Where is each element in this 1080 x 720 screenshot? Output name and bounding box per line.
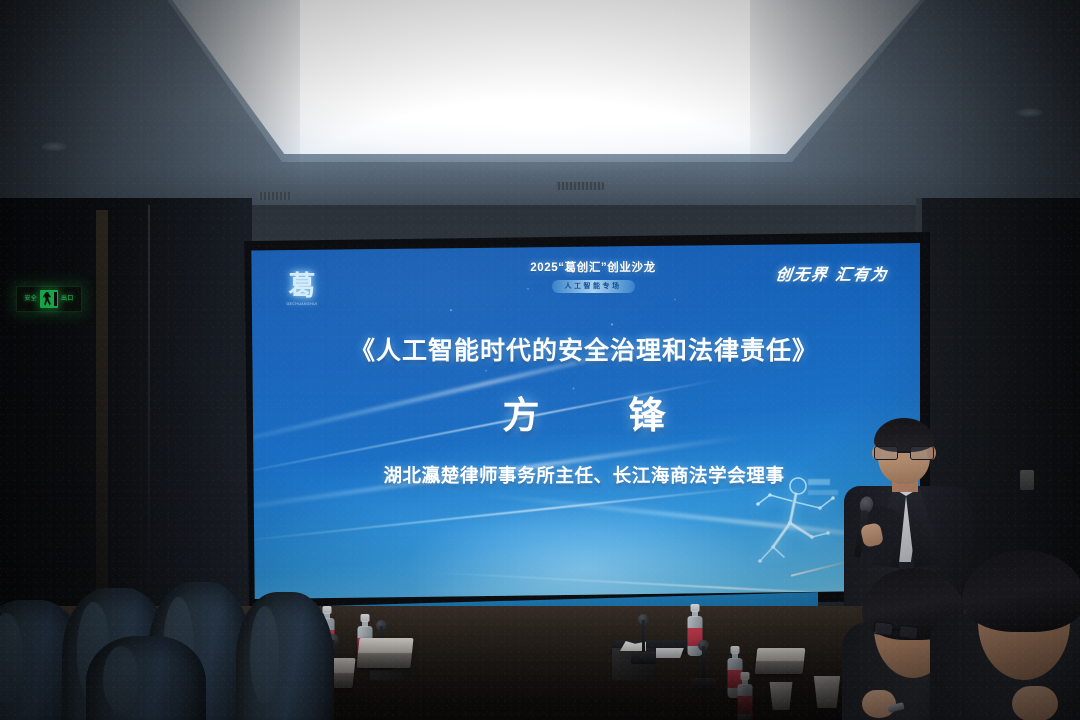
light-switch[interactable] [1020, 470, 1034, 490]
glasses-lens-right [910, 446, 934, 460]
recessed-spot-light [42, 142, 68, 151]
slide-title: 《人工智能时代的安全治理和法律责任》 [248, 331, 920, 367]
exit-sign-label-left: 安全 [24, 296, 37, 302]
slide-speaker-name: 方 锋 [248, 385, 920, 439]
wall-seam [148, 205, 150, 605]
attendee-hair [962, 550, 1080, 632]
attendee-hand [1012, 686, 1058, 720]
slide-logo: 葛 GECHUANGHUI [282, 266, 322, 312]
glasses-icon [874, 446, 934, 460]
slide-header: 2025“葛创汇”创业沙龙 人工智能专场 [498, 259, 688, 293]
running-person-icon [40, 290, 58, 308]
led-screen[interactable]: 葛 GECHUANGHUI 2025“葛创汇”创业沙龙 人工智能专场 创无界 汇… [248, 243, 920, 599]
slide-logo-mark: 葛 [289, 273, 316, 300]
ceiling-vent [258, 192, 292, 200]
recessed-spot-light [1016, 108, 1042, 117]
glasses-lens-left [874, 446, 898, 460]
attendee-front-right [960, 540, 1080, 720]
emergency-exit-sign: 安全 出口 [16, 286, 82, 312]
exit-sign-label-right: 出口 [61, 296, 74, 302]
conference-chair[interactable] [236, 592, 334, 720]
slide-event-kicker: 2025“葛创汇”创业沙龙 [498, 259, 688, 275]
ceiling-speaker [556, 182, 604, 190]
slide-session-badge: 人工智能专场 [552, 280, 635, 293]
conference-chair[interactable] [86, 636, 206, 720]
glasses-bridge [898, 451, 910, 453]
glasses-lens-left [873, 621, 894, 637]
slide-logo-subtext: GECHUANGHUI [287, 302, 318, 306]
slide-slogan: 创无界 汇有为 [774, 261, 889, 285]
glasses-lens-right [898, 624, 919, 640]
conference-photo-scene: 安全 出口 葛 GECHUANGHUI 2025“葛创汇”创业沙龙 人工智能专场… [0, 0, 1080, 720]
left-wall-trim [96, 210, 108, 630]
